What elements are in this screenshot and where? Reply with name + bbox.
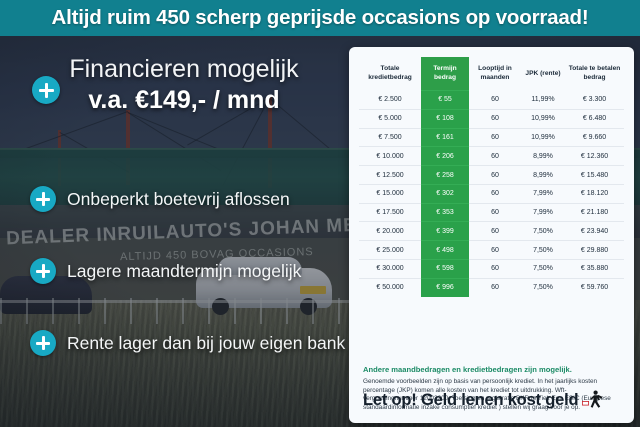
- table-cell-r8-c1: € 498: [421, 241, 469, 260]
- table-cell-r8-c0: € 25.000: [359, 241, 421, 260]
- table-cell-r9-c4: € 35.880: [565, 260, 624, 279]
- table-row: € 25.000€ 498607,50%€ 29.880: [359, 241, 624, 260]
- walking-man-warning-icon: [582, 390, 604, 410]
- benefit-item-3: Rente lager dan bij jouw eigen bank: [30, 330, 345, 356]
- headline-block: Financieren mogelijk v.a. €149,- / mnd: [28, 54, 340, 116]
- table-cell-r0-c2: 60: [469, 91, 521, 110]
- table-cell-r3-c1: € 206: [421, 147, 469, 166]
- table-cell-r10-c1: € 996: [421, 278, 469, 296]
- table-cell-r2-c0: € 7.500: [359, 128, 421, 147]
- table-cell-r10-c0: € 50.000: [359, 278, 421, 296]
- table-cell-r10-c4: € 59.760: [565, 278, 624, 296]
- top-banner-bar: Altijd ruim 450 scherp geprijsde occasio…: [0, 0, 640, 36]
- table-row: € 10.000€ 206608,99%€ 12.360: [359, 147, 624, 166]
- table-cell-r9-c3: 7,50%: [521, 260, 565, 279]
- table-cell-r6-c0: € 17.500: [359, 203, 421, 222]
- table-cell-r2-c4: € 9.660: [565, 128, 624, 147]
- table-cell-r2-c1: € 161: [421, 128, 469, 147]
- table-cell-r2-c2: 60: [469, 128, 521, 147]
- table-header-row: Totale kredietbedragTermijn bedragLoopti…: [359, 57, 624, 91]
- table-cell-r4-c0: € 12.500: [359, 166, 421, 185]
- table-body: € 2.500€ 556011,99%€ 3.300€ 5.000€ 10860…: [359, 91, 624, 297]
- top-banner-text: Altijd ruim 450 scherp geprijsde occasio…: [52, 6, 589, 30]
- table-cell-r0-c3: 11,99%: [521, 91, 565, 110]
- promo-banner: DEALER INRUILAUTO'S JOHAN MEURE ALTIJD 4…: [0, 0, 640, 427]
- headline-line-1: Financieren mogelijk: [28, 54, 340, 84]
- table-cell-r6-c3: 7,99%: [521, 203, 565, 222]
- table-row: € 50.000€ 996607,50%€ 59.760: [359, 278, 624, 296]
- table-col-header-3: JPK (rente): [521, 57, 565, 91]
- benefit-label-2: Lagere maandtermijn mogelijk: [67, 261, 301, 282]
- table-cell-r6-c1: € 353: [421, 203, 469, 222]
- benefit-item-2: Lagere maandtermijn mogelijk: [30, 258, 301, 284]
- table-cell-r5-c3: 7,99%: [521, 184, 565, 203]
- table-cell-r6-c4: € 21.180: [565, 203, 624, 222]
- table-cell-r5-c4: € 18.120: [565, 184, 624, 203]
- table-row: € 30.000€ 598607,50%€ 35.880: [359, 260, 624, 279]
- table-cell-r3-c2: 60: [469, 147, 521, 166]
- table-cell-r5-c2: 60: [469, 184, 521, 203]
- table-cell-r1-c1: € 108: [421, 109, 469, 128]
- table-cell-r7-c3: 7,50%: [521, 222, 565, 241]
- table-cell-r7-c4: € 23.940: [565, 222, 624, 241]
- benefit-item-1: Onbeperkt boetevrij aflossen: [30, 186, 290, 212]
- table-col-header-1: Termijn bedrag: [421, 57, 469, 91]
- table-cell-r9-c2: 60: [469, 260, 521, 279]
- table-cell-r8-c4: € 29.880: [565, 241, 624, 260]
- table-cell-r8-c2: 60: [469, 241, 521, 260]
- table-cell-r8-c3: 7,50%: [521, 241, 565, 260]
- plus-icon-3: [30, 330, 56, 356]
- table-cell-r3-c0: € 10.000: [359, 147, 421, 166]
- table-cell-r3-c3: 8,99%: [521, 147, 565, 166]
- table-cell-r9-c0: € 30.000: [359, 260, 421, 279]
- table-head: Totale kredietbedragTermijn bedragLoopti…: [359, 57, 624, 91]
- left-content: Financieren mogelijk v.a. €149,- / mnd O…: [0, 36, 346, 427]
- table-cell-r9-c1: € 598: [421, 260, 469, 279]
- table-cell-r4-c3: 8,99%: [521, 166, 565, 185]
- table-cell-r1-c3: 10,99%: [521, 109, 565, 128]
- table-cell-r0-c0: € 2.500: [359, 91, 421, 110]
- table-cell-r1-c4: € 6.480: [565, 109, 624, 128]
- table-row: € 15.000€ 302607,99%€ 18.120: [359, 184, 624, 203]
- table-cell-r6-c2: 60: [469, 203, 521, 222]
- table-cell-r10-c3: 7,50%: [521, 278, 565, 296]
- table-row: € 2.500€ 556011,99%€ 3.300: [359, 91, 624, 110]
- benefit-label-3: Rente lager dan bij jouw eigen bank: [67, 333, 345, 354]
- rates-card: Totale kredietbedragTermijn bedragLoopti…: [349, 47, 634, 423]
- table-col-header-2: Looptijd in maanden: [469, 57, 521, 91]
- table-cell-r3-c4: € 12.360: [565, 147, 624, 166]
- table-row: € 20.000€ 399607,50%€ 23.940: [359, 222, 624, 241]
- plus-icon-1: [30, 186, 56, 212]
- table-cell-r5-c1: € 302: [421, 184, 469, 203]
- table-cell-r7-c2: 60: [469, 222, 521, 241]
- table-cell-r1-c2: 60: [469, 109, 521, 128]
- table-cell-r5-c0: € 15.000: [359, 184, 421, 203]
- table-row: € 7.500€ 1616010,99%€ 9.660: [359, 128, 624, 147]
- footnote-title: Andere maandbedragen en kredietbedragen …: [363, 365, 621, 374]
- table-cell-r4-c2: 60: [469, 166, 521, 185]
- table-cell-r10-c2: 60: [469, 278, 521, 296]
- table-cell-r0-c4: € 3.300: [565, 91, 624, 110]
- table-row: € 17.500€ 353607,99%€ 21.180: [359, 203, 624, 222]
- headline-line-2: v.a. €149,- / mnd: [28, 84, 340, 116]
- credit-warning-text: Let op! Geld lenen kost geld: [363, 391, 578, 410]
- loan-rates-table: Totale kredietbedragTermijn bedragLoopti…: [359, 57, 624, 297]
- table-cell-r4-c1: € 258: [421, 166, 469, 185]
- table-cell-r2-c3: 10,99%: [521, 128, 565, 147]
- table-cell-r7-c1: € 399: [421, 222, 469, 241]
- table-col-header-4: Totale te betalen bedrag: [565, 57, 624, 91]
- table-cell-r7-c0: € 20.000: [359, 222, 421, 241]
- table-row: € 12.500€ 258608,99%€ 15.480: [359, 166, 624, 185]
- plus-icon-2: [30, 258, 56, 284]
- table-cell-r0-c1: € 55: [421, 91, 469, 110]
- table-row: € 5.000€ 1086010,99%€ 6.480: [359, 109, 624, 128]
- table-cell-r1-c0: € 5.000: [359, 109, 421, 128]
- table-cell-r4-c4: € 15.480: [565, 166, 624, 185]
- credit-warning: Let op! Geld lenen kost geld: [363, 390, 621, 410]
- benefit-label-1: Onbeperkt boetevrij aflossen: [67, 189, 290, 210]
- table-col-header-0: Totale kredietbedrag: [359, 57, 421, 91]
